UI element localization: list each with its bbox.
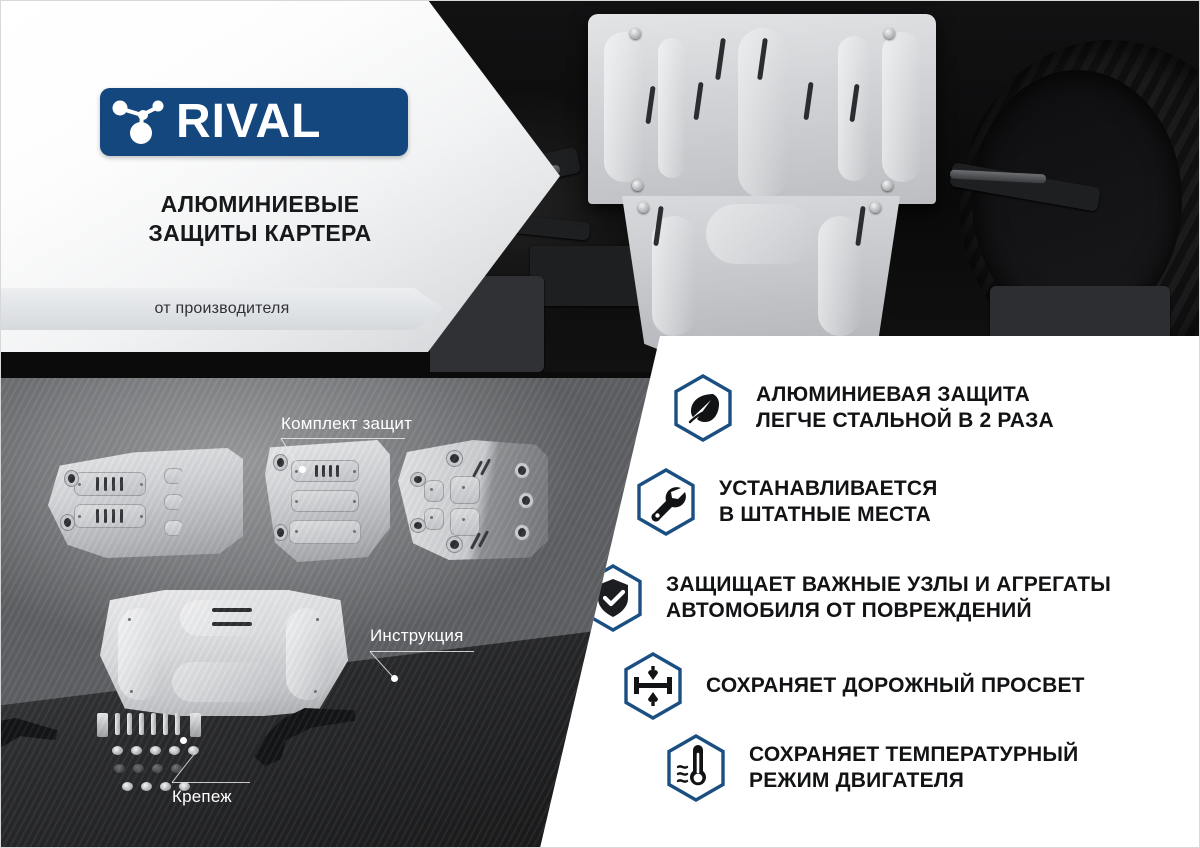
washer [141,782,152,791]
washer [160,782,171,791]
feature-text-temperature: СОХРАНЯЕТ ТЕМПЕРАТУРНЫЙ РЕЖИМ ДВИГАТЕЛЯ [749,742,1078,793]
engine-skid-plate [588,14,936,204]
washer [131,746,142,755]
feature-text-protection: ЗАЩИЩАЕТ ВАЖНЫЕ УЗЛЫ И АГРЕГАТЫ АВТОМОБИ… [666,572,1111,623]
washer [112,746,123,755]
hero-subtitle: от производителя [155,300,290,318]
callout-hardware-label: Крепеж [172,787,232,807]
brand-name: RIVAL [176,98,321,146]
washer-dark [133,764,144,773]
callout-manual-leader [370,651,474,652]
callout-kit-label: Комплект защит [281,414,412,434]
bolt [151,713,156,735]
callout-hardware-dot [180,737,187,744]
callout-kit-leader [281,438,405,439]
washer [150,746,161,755]
callout-manual-label: Инструкция [370,626,464,646]
hero-subtitle-strip: от производителя [0,288,444,330]
bolt [163,713,168,735]
skid-plate-3 [398,440,548,560]
bolt [127,713,132,735]
feature-item-clearance: СОХРАНЯЕТ ДОРОЖНЫЙ ПРОСВЕТ [622,652,1085,720]
bolt [175,713,180,735]
molecule-icon [108,95,174,149]
feature-text-fitment: УСТАНАВЛИВАЕТСЯ В ШТАТНЫЕ МЕСТА [719,476,938,527]
bolt [139,713,144,735]
washer-dark [152,764,163,773]
hardware-strip-right [190,713,201,737]
bolt [115,713,120,735]
ground-clearance-icon [622,652,684,720]
washer-dark [114,764,125,773]
thermometer-icon [665,734,727,802]
skid-plate-1 [48,448,243,558]
leaf-icon [672,374,734,442]
page-title: АЛЮМИНИЕВЫЕ ЗАЩИТЫ КАРТЕРА [60,190,460,248]
hero-title-line1: АЛЮМИНИЕВЫЕ [60,190,460,219]
hardware-strip-left [97,713,108,737]
feature-item-protection: ЗАЩИЩАЕТ ВАЖНЫЕ УЗЛЫ И АГРЕГАТЫ АВТОМОБИ… [582,564,1111,632]
hero-title-line2: ЗАЩИТЫ КАРТЕРА [60,219,460,248]
callout-manual-dot [391,675,398,682]
wrench-icon [635,468,697,536]
washer [169,746,180,755]
brand-logo: RIVAL [100,88,408,156]
feature-item-fitment: УСТАНАВЛИВАЕТСЯ В ШТАТНЫЕ МЕСТА [635,468,938,536]
callout-kit-dot [299,466,306,473]
callout-hardware-leader [172,782,250,783]
feature-text-weight: АЛЮМИНИЕВАЯ ЗАЩИТА ЛЕГЧЕ СТАЛЬНОЙ В 2 РА… [756,382,1054,433]
feature-item-temperature: СОХРАНЯЕТ ТЕМПЕРАТУРНЫЙ РЕЖИМ ДВИГАТЕЛЯ [665,734,1078,802]
promo-banner: Преимущества [0,0,1200,848]
skid-plate-large [100,590,348,716]
washer [122,782,133,791]
skid-plate-2 [265,440,390,562]
feature-text-clearance: СОХРАНЯЕТ ДОРОЖНЫЙ ПРОСВЕТ [706,673,1085,699]
feature-item-weight: АЛЮМИНИЕВАЯ ЗАЩИТА ЛЕГЧЕ СТАЛЬНОЙ В 2 РА… [672,374,1054,442]
